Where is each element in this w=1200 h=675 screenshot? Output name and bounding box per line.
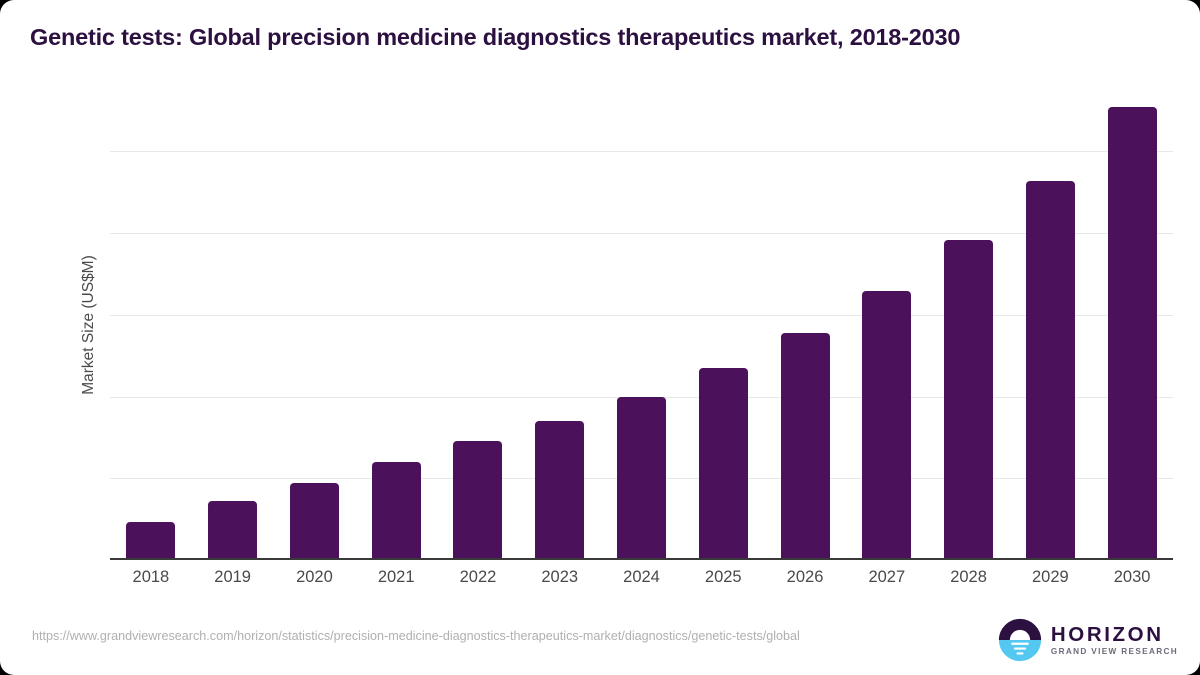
bar-2021[interactable]	[372, 462, 421, 560]
bar-2026[interactable]	[781, 333, 830, 560]
bar-2024[interactable]	[617, 397, 666, 560]
source-url[interactable]: https://www.grandviewresearch.com/horizo…	[32, 628, 922, 645]
x-tick-label-2030: 2030	[1114, 568, 1151, 587]
bar-series	[110, 90, 1173, 560]
x-tick-label-2026: 2026	[787, 568, 824, 587]
horizon-circle-icon	[998, 618, 1042, 662]
bar-2030[interactable]	[1108, 107, 1157, 560]
x-tick-label-2020: 2020	[296, 568, 333, 587]
logo-tagline: GRAND VIEW RESEARCH	[1051, 647, 1178, 656]
plot-area: Market Size (US$M) 05k10k15k20k25k 20182…	[110, 90, 1173, 560]
bar-2018[interactable]	[126, 522, 175, 560]
bar-2025[interactable]	[699, 368, 748, 560]
x-tick-label-2023: 2023	[541, 568, 578, 587]
bar-2023[interactable]	[535, 421, 584, 560]
chart-screenshot: Genetic tests: Global precision medicine…	[0, 0, 1200, 675]
x-tick-label-2024: 2024	[623, 568, 660, 587]
logo-wordmark: HORIZON	[1051, 624, 1178, 646]
x-tick-label-2029: 2029	[1032, 568, 1069, 587]
x-tick-label-2019: 2019	[214, 568, 251, 587]
bar-2029[interactable]	[1026, 181, 1075, 560]
page-title: Genetic tests: Global precision medicine…	[30, 24, 1170, 51]
bar-2028[interactable]	[944, 240, 993, 560]
x-tick-label-2022: 2022	[460, 568, 497, 587]
y-axis-title: Market Size (US$M)	[80, 255, 98, 395]
logo[interactable]: HORIZON GRAND VIEW RESEARCH	[998, 618, 1178, 662]
x-tick-label-2021: 2021	[378, 568, 415, 587]
x-tick-label-2025: 2025	[705, 568, 742, 587]
x-tick-label-2027: 2027	[868, 568, 905, 587]
bar-2019[interactable]	[208, 501, 257, 560]
x-tick-label-2018: 2018	[133, 568, 170, 587]
bar-2027[interactable]	[862, 291, 911, 560]
x-axis-line	[110, 558, 1173, 560]
x-tick-label-2028: 2028	[950, 568, 987, 587]
bar-2022[interactable]	[453, 441, 502, 560]
bar-2020[interactable]	[290, 483, 339, 560]
logo-text: HORIZON GRAND VIEW RESEARCH	[1051, 624, 1178, 657]
